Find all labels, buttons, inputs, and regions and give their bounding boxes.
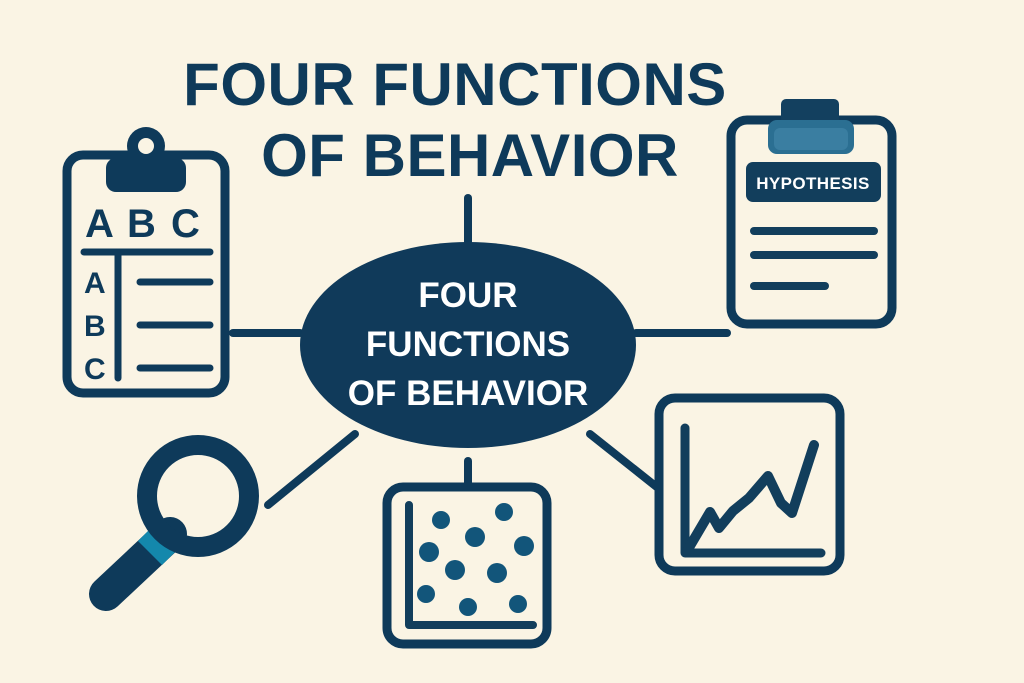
infographic-scene: FOUR FUNCTIONS OF BEHAVIOR FOUR FUNCTION… (0, 0, 1024, 683)
center-node-line-1: FOUR (418, 276, 517, 315)
abc-data-clipboard[interactable]: A B C A B C (67, 127, 225, 393)
scatter-point (509, 595, 527, 613)
center-node-line-2: FUNCTIONS (366, 325, 570, 364)
abc-header-letter-b: B (127, 202, 156, 246)
scatter-point (419, 542, 439, 562)
scatter-point (514, 536, 534, 556)
clipboard-abc-header: A B C (85, 202, 200, 246)
abc-row-letter-a: A (84, 267, 106, 300)
abc-row-letter-c: C (84, 353, 106, 386)
abc-header-letter-a: A (85, 202, 114, 246)
page-title-line-2: OF BEHAVIOR (261, 122, 679, 189)
trend-line-card[interactable] (659, 398, 840, 571)
scatter-plot-card[interactable] (387, 487, 547, 644)
hypothesis-label: HYPOTHESIS (756, 174, 870, 193)
center-node-line-3: OF BEHAVIOR (348, 374, 588, 413)
scatter-point (495, 503, 513, 521)
scatter-point (417, 585, 435, 603)
scatter-point (432, 511, 450, 529)
scatter-point (459, 598, 477, 616)
page-title-line-1: FOUR FUNCTIONS (183, 51, 727, 118)
scatter-point (465, 527, 485, 547)
scatter-point (445, 560, 465, 580)
infographic-canvas: FOUR FUNCTIONS OF BEHAVIOR FOUR FUNCTION… (0, 0, 1024, 683)
hypothesis-clipboard[interactable]: HYPOTHESIS (731, 99, 892, 324)
clipboard-abc-rows: A B C (84, 267, 106, 386)
center-node[interactable]: FOUR FUNCTIONS OF BEHAVIOR (300, 242, 636, 448)
abc-row-letter-b: B (84, 310, 106, 343)
scatter-point (487, 563, 507, 583)
abc-header-letter-c: C (171, 202, 200, 246)
